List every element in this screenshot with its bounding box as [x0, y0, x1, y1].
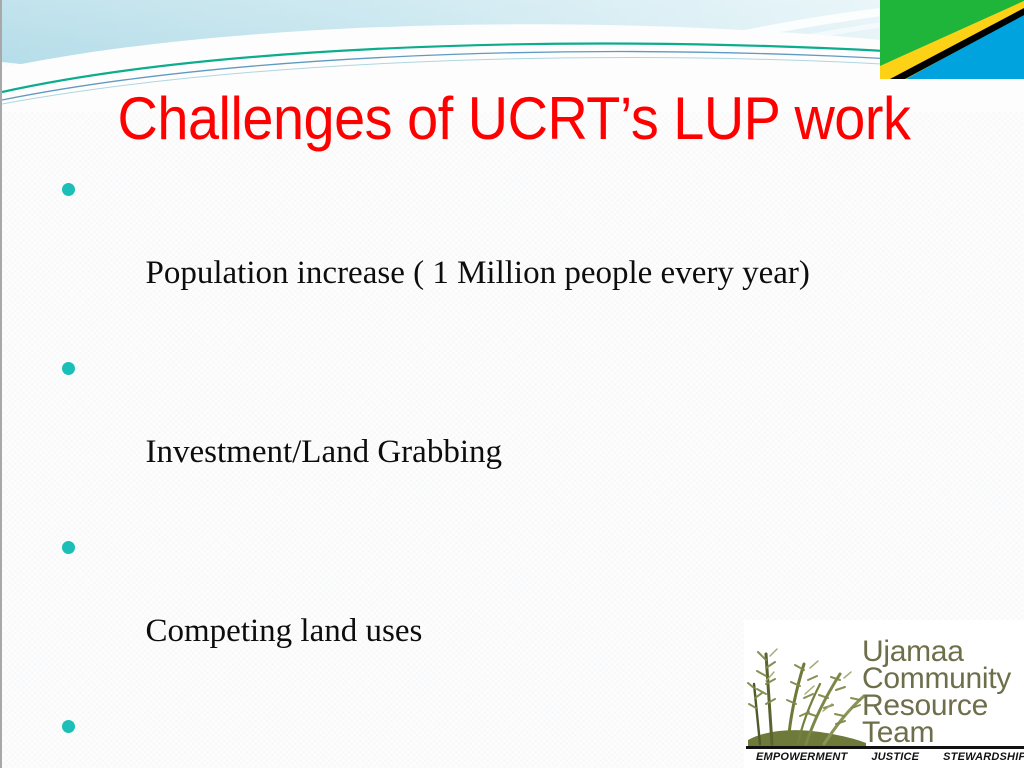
logo-wordmark: Ujamaa Community Resource Team: [862, 638, 1011, 746]
tagline-stewardship: STEWARDSHIP: [943, 751, 1024, 763]
logo-line-3: Resource: [862, 692, 1011, 719]
bullet-dot-icon: [62, 362, 75, 375]
tagline-empowerment: EMPOWERMENT: [756, 751, 847, 763]
presentation-slide: Challenges of UCRT’s LUP work Population…: [0, 0, 1024, 768]
logo-line-4: Team: [862, 719, 1011, 746]
bullet-dot-icon: [62, 541, 75, 554]
bullet-dot-icon: [62, 183, 75, 196]
logo-line-1: Ujamaa: [862, 638, 1011, 665]
list-item: Population increase ( 1 Million people e…: [52, 168, 932, 336]
list-item-label: Investment/Land Grabbing: [146, 434, 503, 470]
grass-illustration-icon: [744, 620, 870, 746]
list-item: Investment/Land Grabbing: [52, 347, 932, 515]
logo-tagline: EMPOWERMENT JUSTICE STEWARDSHIP: [756, 751, 1024, 763]
logo-line-2: Community: [862, 665, 1011, 692]
logo-divider: [746, 746, 1024, 749]
list-item-label: Competing land uses: [146, 613, 423, 649]
tanzania-flag-icon: [880, 0, 1024, 79]
bullet-dot-icon: [62, 720, 75, 733]
ucrt-logo: Ujamaa Community Resource Team EMPOWERME…: [744, 620, 1024, 768]
tagline-justice: JUSTICE: [871, 751, 919, 763]
slide-title: Challenges of UCRT’s LUP work: [38, 86, 990, 152]
list-item-label: Population increase ( 1 Million people e…: [146, 255, 810, 291]
